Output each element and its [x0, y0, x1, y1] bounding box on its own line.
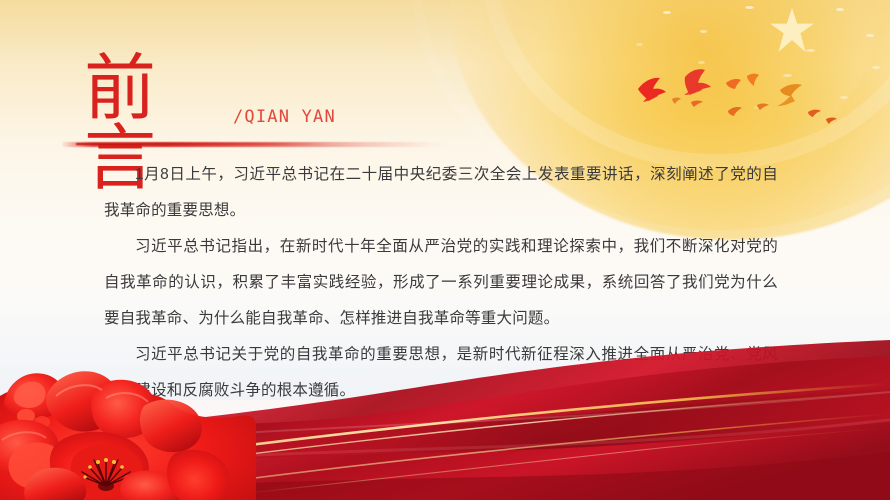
- presentation-slide: 前 言 /QIAN YAN 1月8日上午，习近平总书记在二十届中央纪委三次全会上…: [0, 0, 890, 500]
- birds-svg: [630, 55, 840, 130]
- paragraph-1: 1月8日上午，习近平总书记在二十届中央纪委三次全会上发表重要讲话，深刻阐述了党的…: [104, 157, 778, 229]
- peony-svg: [0, 346, 256, 500]
- title-char-1: 前: [84, 56, 194, 122]
- title-pinyin: /QIAN YAN: [233, 107, 336, 127]
- title-underline-divider: [62, 142, 447, 147]
- flying-birds-decoration: [630, 55, 840, 130]
- red-peony-decoration: [0, 346, 256, 500]
